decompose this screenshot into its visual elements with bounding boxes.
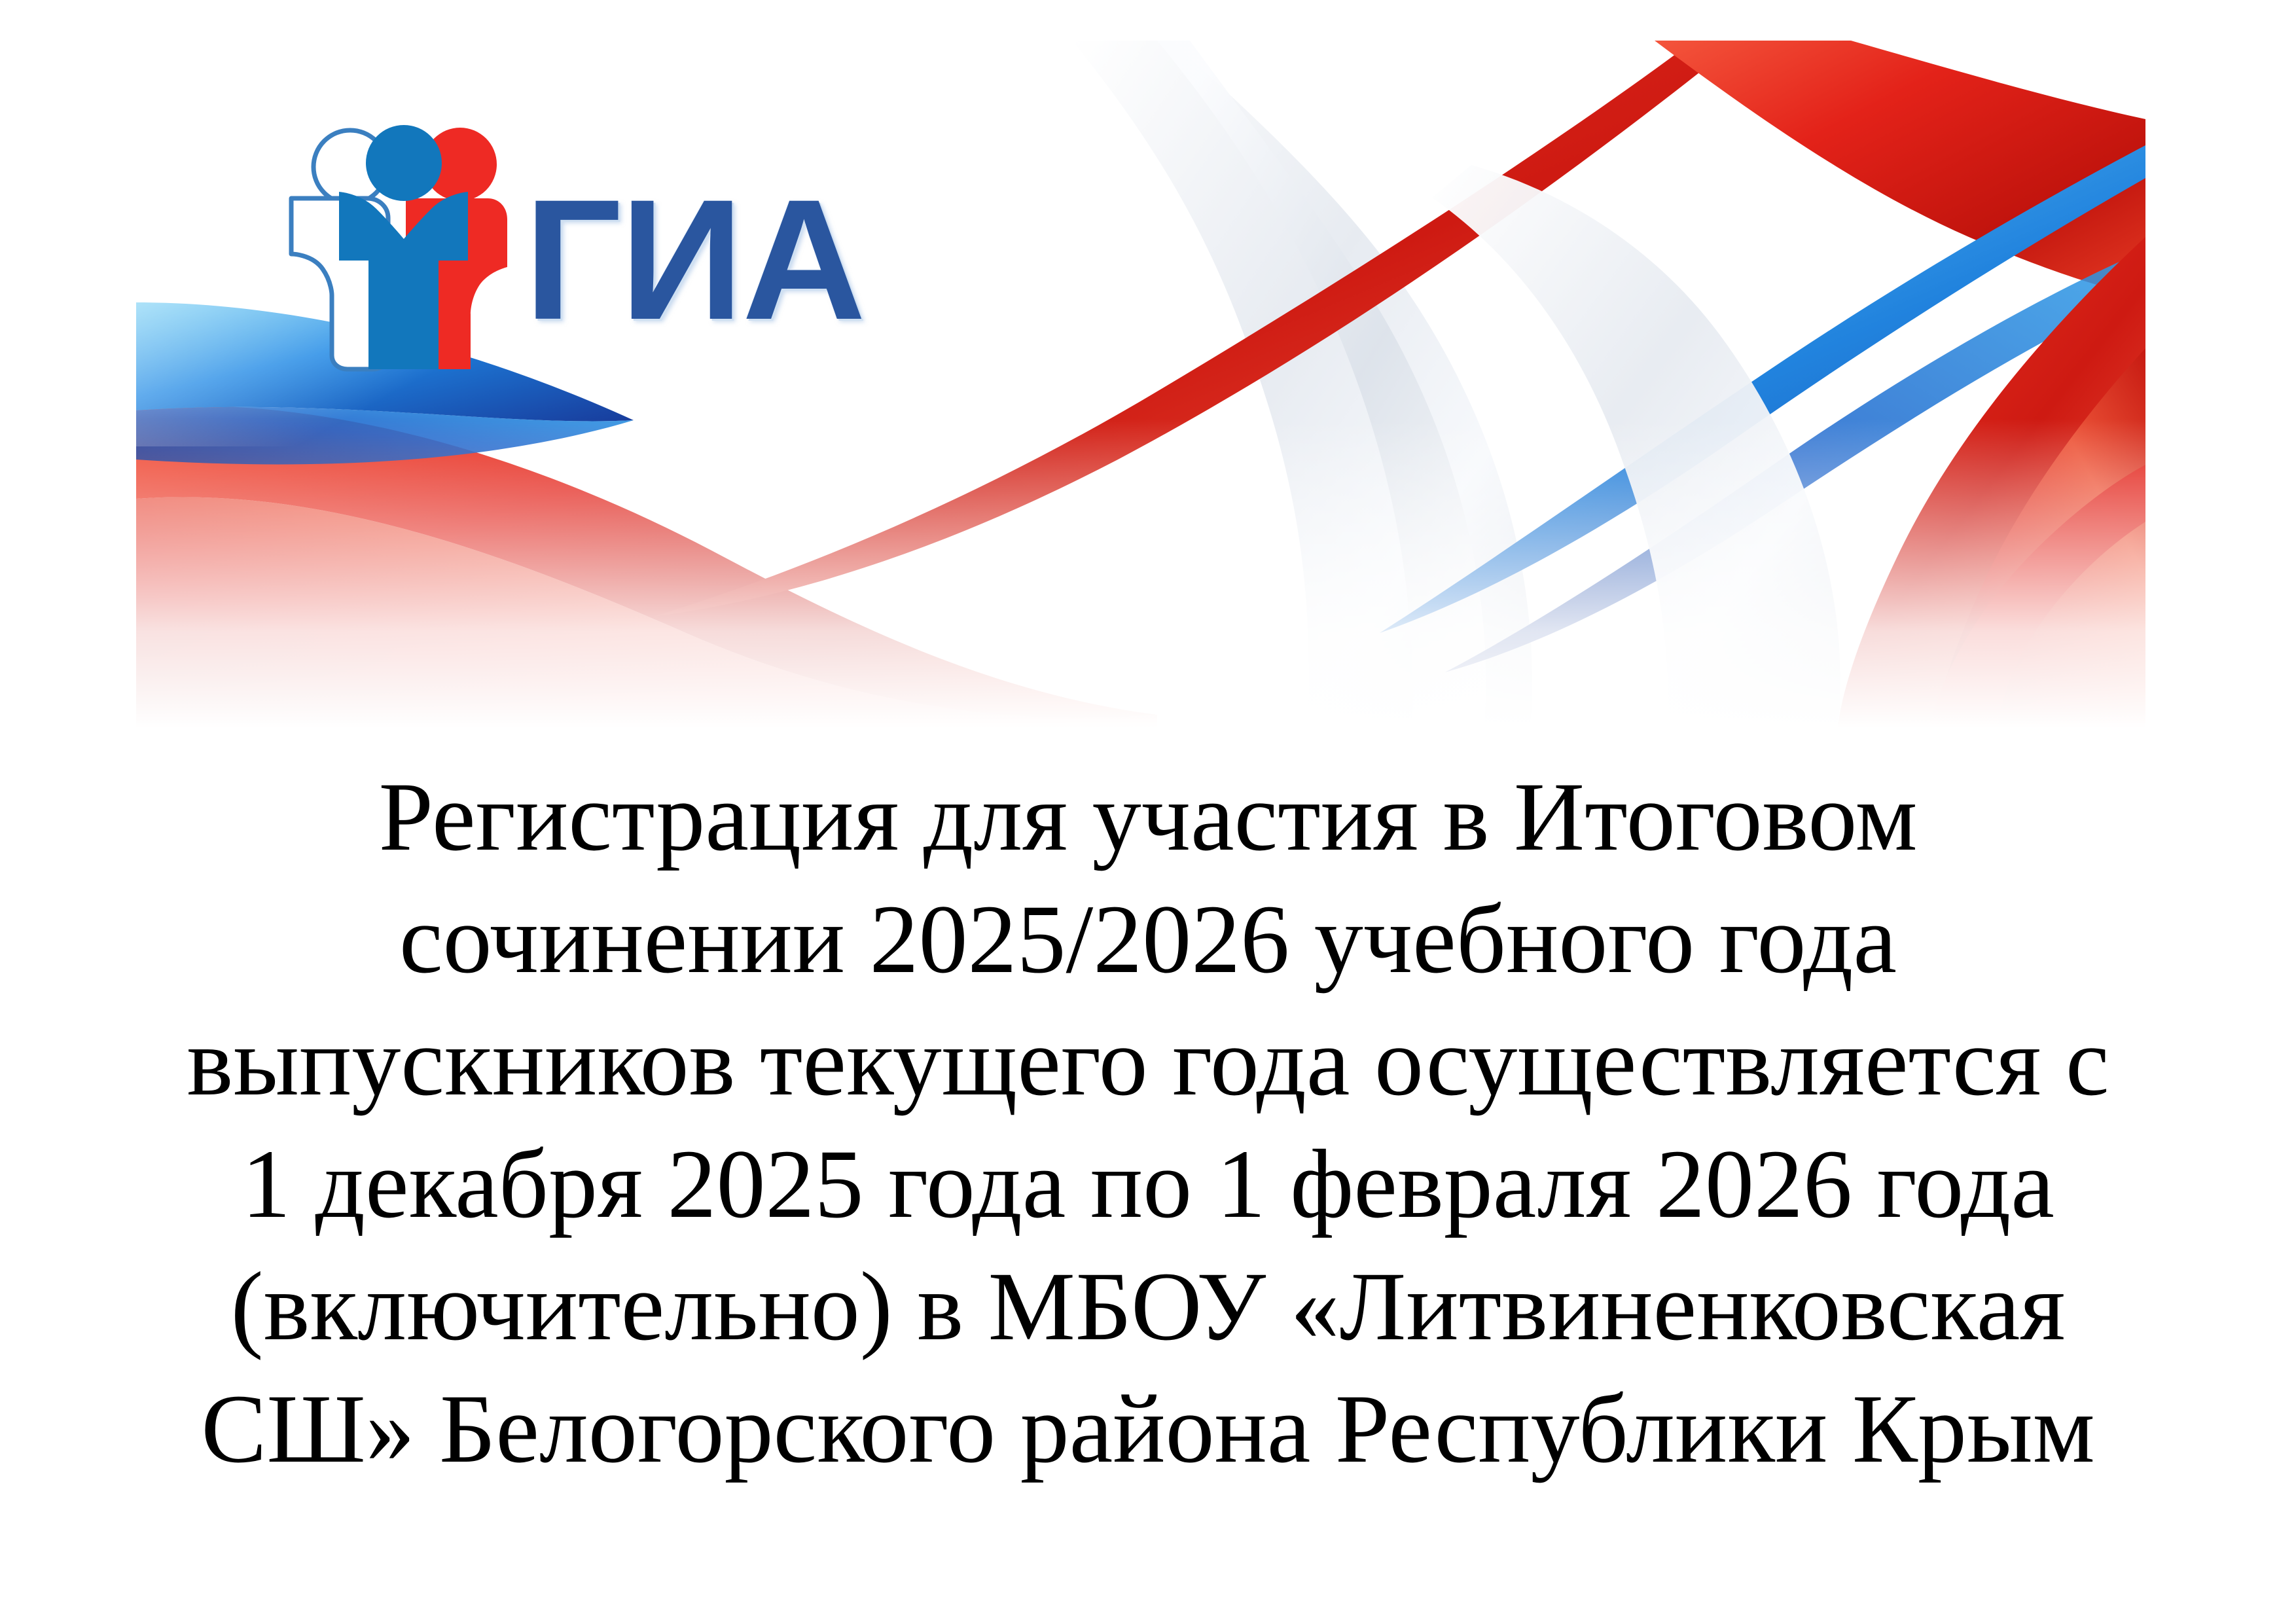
gia-figures-icon xyxy=(272,120,507,372)
announcement-line-5: (включительно) в МБОУ «Литвиненковская xyxy=(0,1246,2296,1368)
announcement-text: Регистрация для участия в Итоговом сочин… xyxy=(0,756,2296,1490)
announcement-line-3: выпускников текущего года осуществляется… xyxy=(0,1001,2296,1123)
document-page: ГИА Регистрация для участия в Итоговом с… xyxy=(0,0,2296,1624)
gia-logo: ГИА xyxy=(272,115,959,376)
announcement-line-4: 1 декабря 2025 года по 1 февраля 2026 го… xyxy=(0,1123,2296,1246)
announcement-line-1: Регистрация для участия в Итоговом xyxy=(0,756,2296,878)
announcement-line-6: СШ» Белогорского района Республики Крым xyxy=(0,1368,2296,1490)
announcement-line-2: сочинении 2025/2026 учебного года xyxy=(0,878,2296,1001)
gia-wordmark: ГИА xyxy=(524,183,865,337)
